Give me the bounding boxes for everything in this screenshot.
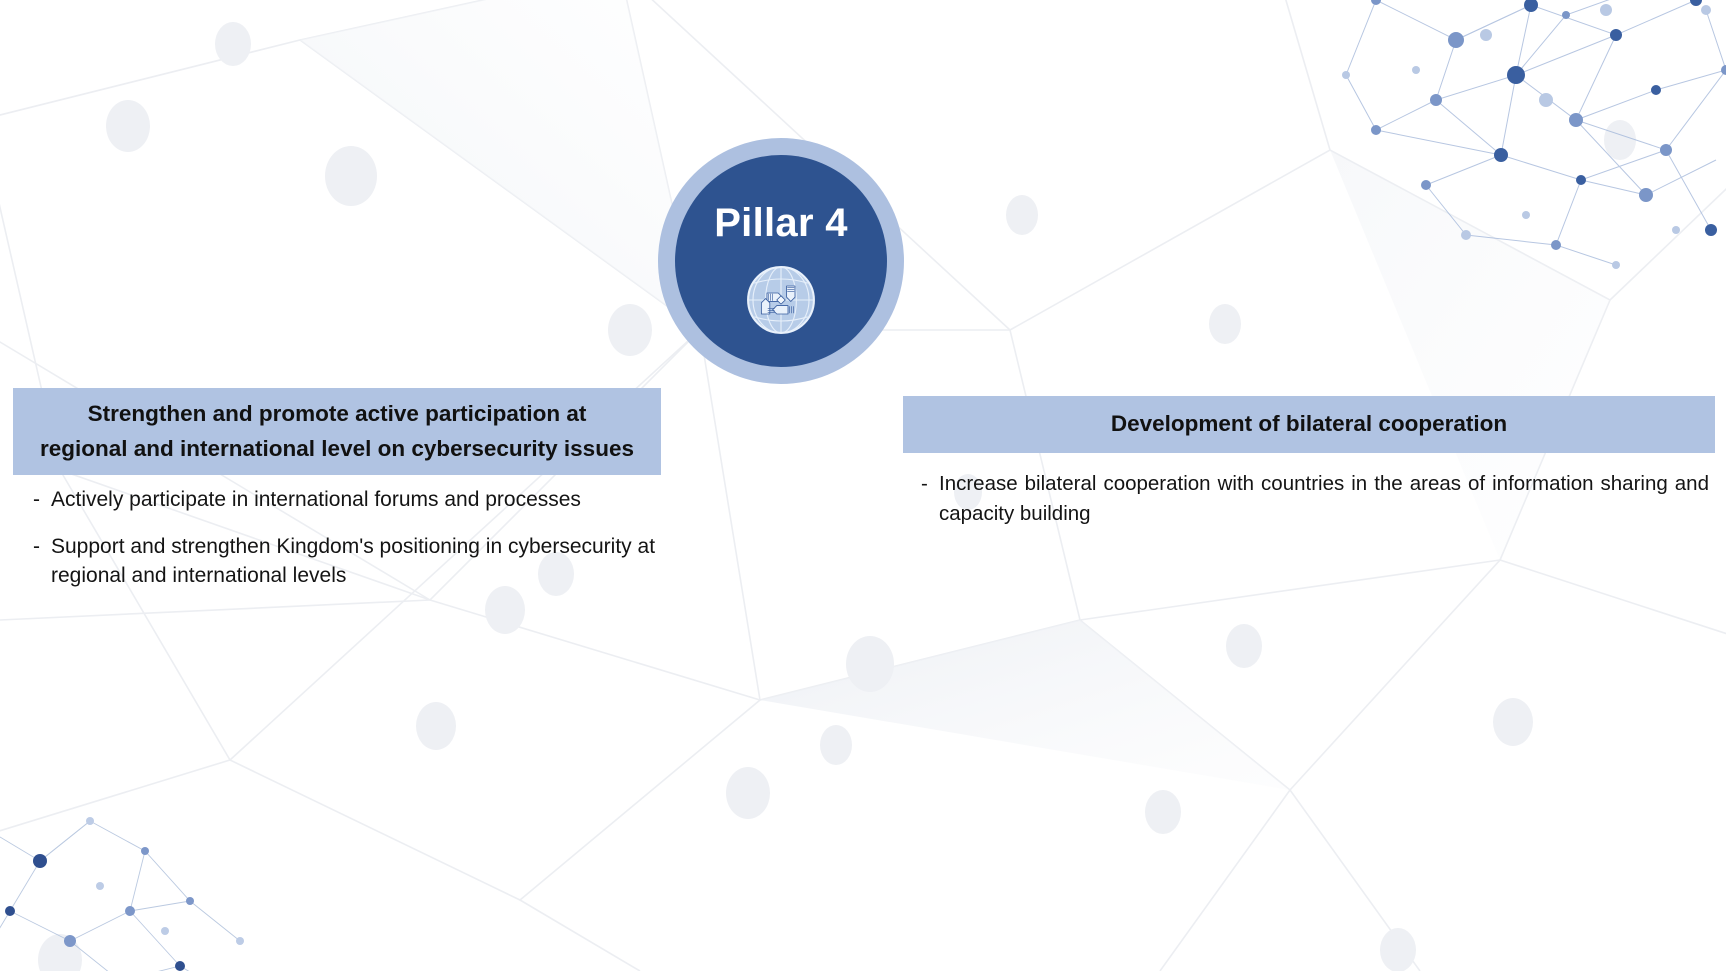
column-right-bullets: - Increase bilateral cooperation with co… xyxy=(903,469,1715,529)
bullet-text: Support and strengthen Kingdom's positio… xyxy=(51,532,661,590)
column-right-heading-line-1: Development of bilateral cooperation xyxy=(909,407,1709,441)
global-partnership-handshake-icon xyxy=(746,265,816,335)
list-item: - Increase bilateral cooperation with co… xyxy=(911,469,1709,529)
pillar-badge-inner: Pillar 4 xyxy=(675,155,887,367)
pillar-badge: Pillar 4 xyxy=(658,138,904,384)
bullet-text: Increase bilateral cooperation with coun… xyxy=(939,469,1709,529)
slide-canvas: Pillar 4 xyxy=(0,0,1726,971)
list-item: - Actively participate in international … xyxy=(21,485,661,514)
pillar-title: Pillar 4 xyxy=(714,203,848,243)
bullet-mark: - xyxy=(21,485,51,514)
network-graph-icon-top-right xyxy=(1316,0,1726,280)
column-left: Strengthen and promote active participat… xyxy=(13,388,661,590)
column-left-bullets: - Actively participate in international … xyxy=(13,485,661,590)
bullet-mark: - xyxy=(911,469,939,499)
column-left-heading-line-2: regional and international level on cybe… xyxy=(19,431,655,466)
column-left-heading: Strengthen and promote active participat… xyxy=(13,388,661,475)
bullet-mark: - xyxy=(21,532,51,561)
column-left-heading-line-1: Strengthen and promote active participat… xyxy=(19,396,655,431)
network-graph-icon-bottom-left xyxy=(0,791,270,971)
bullet-text: Actively participate in international fo… xyxy=(51,485,661,514)
column-right: Development of bilateral cooperation - I… xyxy=(903,396,1715,529)
list-item: - Support and strengthen Kingdom's posit… xyxy=(21,532,661,590)
column-right-heading: Development of bilateral cooperation xyxy=(903,396,1715,453)
